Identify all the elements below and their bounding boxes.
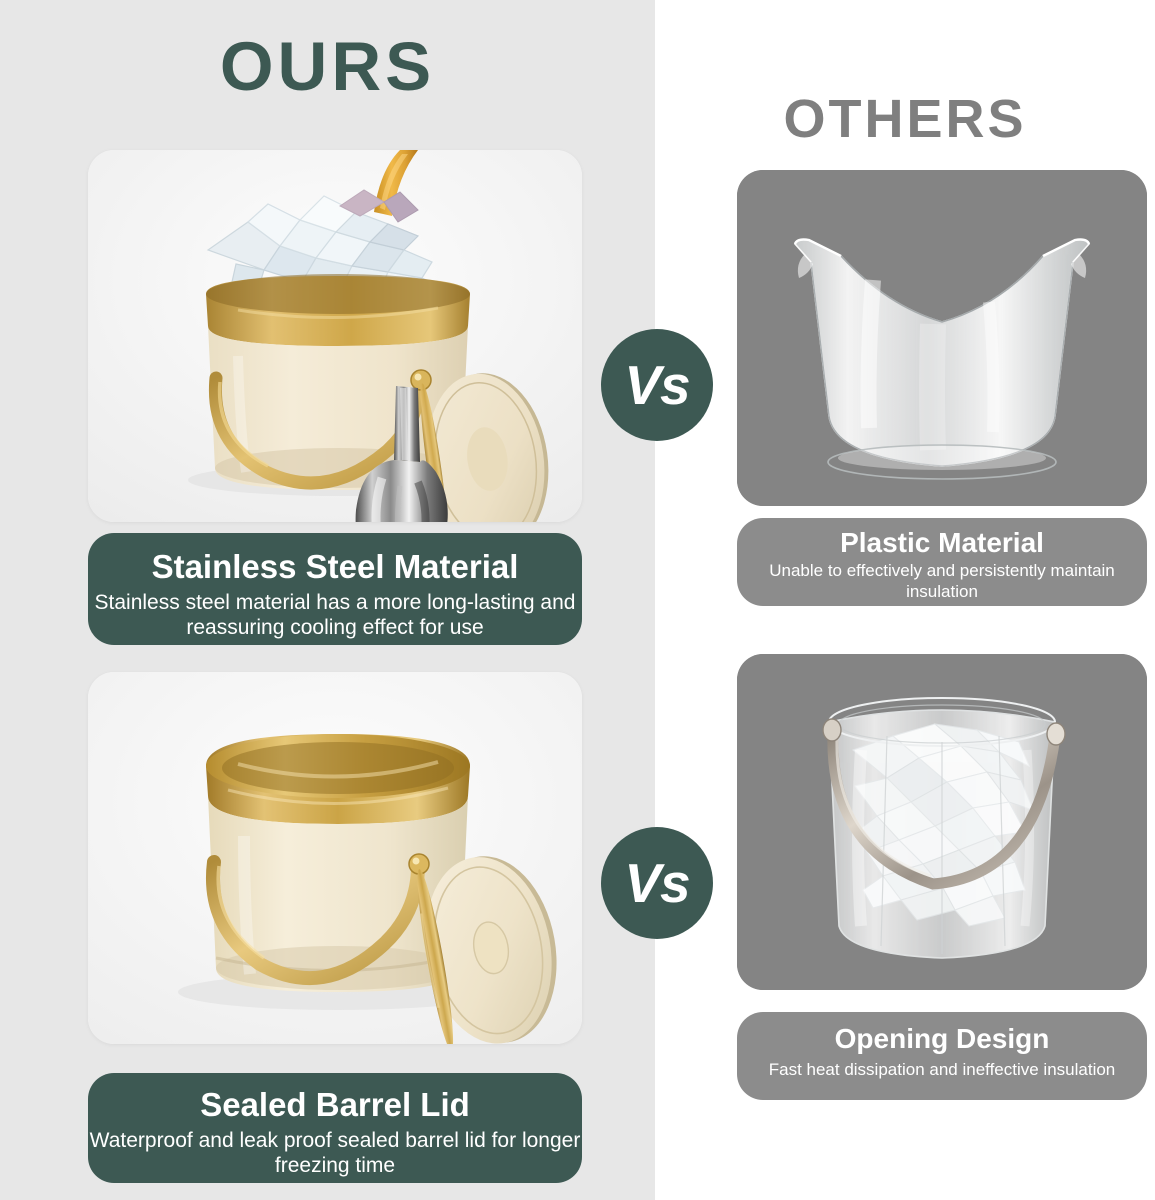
clear-plastic-bucket-with-ice-illustration — [737, 654, 1147, 990]
ours-heading: OURS — [0, 32, 655, 101]
others-product-image-1 — [737, 170, 1147, 506]
others-feature-description-2: Fast heat dissipation and ineffective in… — [737, 1054, 1147, 1081]
clear-plastic-ice-bucket-illustration — [737, 170, 1147, 506]
vs-badge-1: Vs — [601, 329, 713, 441]
others-product-image-2 — [737, 654, 1147, 990]
ours-product-image-1 — [88, 150, 582, 522]
others-feature-title-2: Opening Design — [737, 1012, 1147, 1054]
others-feature-label-2: Opening Design Fast heat dissipation and… — [737, 1012, 1147, 1100]
others-feature-label-1: Plastic Material Unable to effectively a… — [737, 518, 1147, 606]
ours-feature-title-2: Sealed Barrel Lid — [88, 1073, 582, 1123]
others-feature-title-1: Plastic Material — [737, 518, 1147, 558]
ours-feature-description-1: Stainless steel material has a more long… — [88, 585, 582, 641]
ours-feature-title-1: Stainless Steel Material — [88, 533, 582, 585]
ours-product-image-2 — [88, 672, 582, 1044]
ice-bucket-with-ice-and-scoop-illustration — [88, 150, 582, 522]
ice-bucket-with-sealed-lid-illustration — [88, 672, 582, 1044]
ours-feature-label-2: Sealed Barrel Lid Waterproof and leak pr… — [88, 1073, 582, 1183]
vs-badge-2: Vs — [601, 827, 713, 939]
ours-feature-label-1: Stainless Steel Material Stainless steel… — [88, 533, 582, 645]
others-heading: OTHERS — [655, 92, 1155, 146]
comparison-infographic: OURS OTHERS — [0, 0, 1155, 1200]
others-feature-description-1: Unable to effectively and persistently m… — [737, 558, 1147, 602]
ours-feature-description-2: Waterproof and leak proof sealed barrel … — [88, 1123, 582, 1179]
